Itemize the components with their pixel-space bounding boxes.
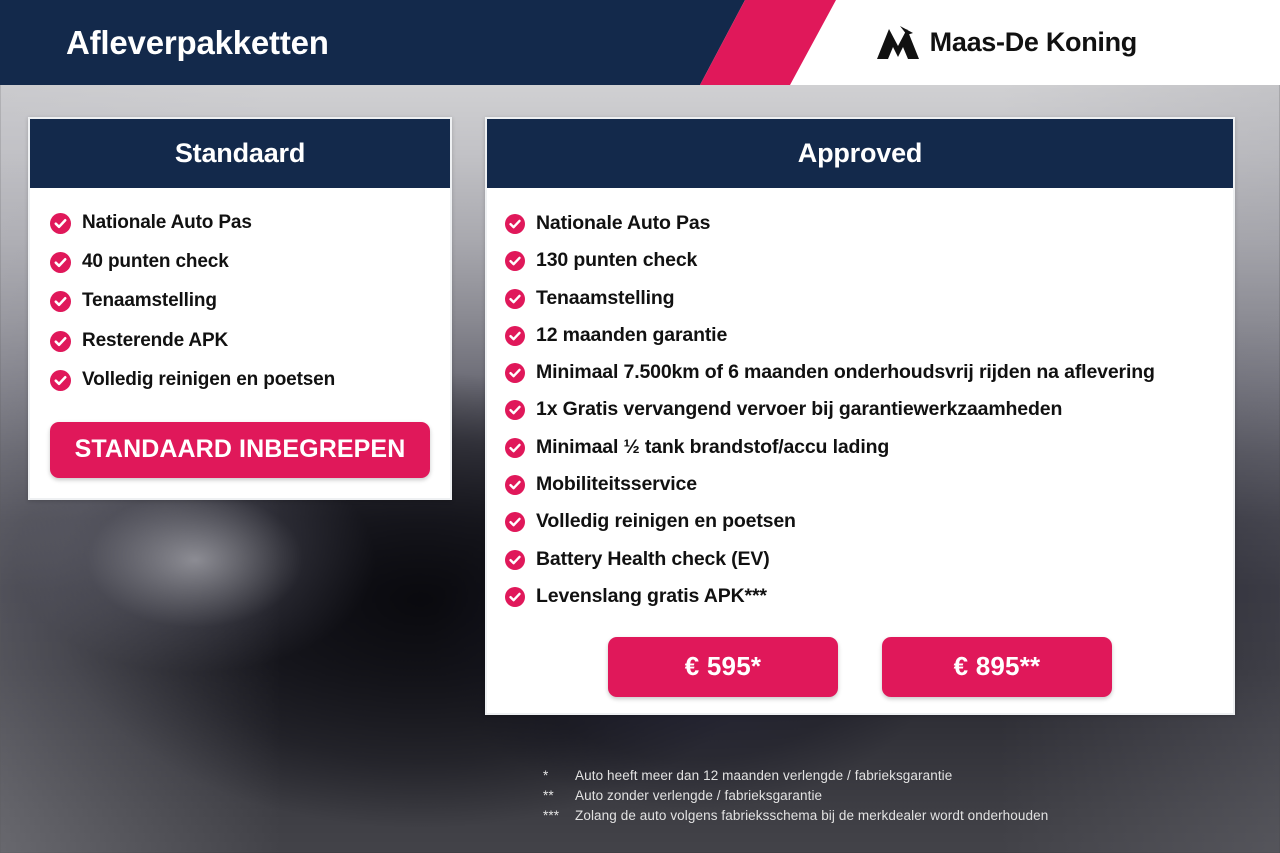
list-item: Levenslang gratis APK*** <box>505 583 1215 610</box>
feature-label: 40 punten check <box>82 249 229 275</box>
feature-list-approved: Nationale Auto Pas 130 punten check Tena… <box>505 210 1215 610</box>
package-card-approved: Approved Nationale Auto Pas 130 punten c… <box>485 117 1235 715</box>
footnotes: * Auto heeft meer dan 12 maanden verleng… <box>543 766 1048 826</box>
check-circle-icon <box>50 213 71 234</box>
feature-label: Resterende APK <box>82 328 228 354</box>
promo-page: Afleverpakketten Maas-De Koning Standaar… <box>0 0 1280 853</box>
package-card-standaard: Standaard Nationale Auto Pas 40 punten c… <box>28 117 452 500</box>
feature-label: Battery Health check (EV) <box>536 546 770 573</box>
feature-list-standaard: Nationale Auto Pas 40 punten check Tenaa… <box>50 210 430 393</box>
list-item: 12 maanden garantie <box>505 322 1215 349</box>
footnote-marker: * <box>543 766 575 786</box>
footnote-row: ** Auto zonder verlengde / fabrieksgaran… <box>543 786 1048 806</box>
feature-label: Minimaal ½ tank brandstof/accu lading <box>536 434 889 461</box>
package-title-approved: Approved <box>487 119 1233 188</box>
check-circle-icon <box>50 252 71 273</box>
feature-label: 130 punten check <box>536 247 697 274</box>
feature-label: Mobiliteitsservice <box>536 471 697 498</box>
package-body-standaard: Nationale Auto Pas 40 punten check Tenaa… <box>30 188 450 498</box>
feature-label: Nationale Auto Pas <box>82 210 252 236</box>
feature-label: Minimaal 7.500km of 6 maanden onderhouds… <box>536 359 1155 386</box>
list-item: Minimaal 7.500km of 6 maanden onderhouds… <box>505 359 1215 386</box>
footnote-text: Auto heeft meer dan 12 maanden verlengde… <box>575 766 952 786</box>
footnote-marker: ** <box>543 786 575 806</box>
page-title: Afleverpakketten <box>66 0 329 85</box>
check-circle-icon <box>505 214 525 234</box>
feature-label: Tenaamstelling <box>82 288 217 314</box>
footnote-row: *** Zolang de auto volgens fabrieksschem… <box>543 806 1048 826</box>
list-item: Tenaamstelling <box>505 285 1215 312</box>
list-item: 1x Gratis vervangend vervoer bij garanti… <box>505 396 1215 423</box>
list-item: 130 punten check <box>505 247 1215 274</box>
check-circle-icon <box>505 550 525 570</box>
maas-de-koning-m-mark-icon <box>877 26 919 60</box>
list-item: Volledig reinigen en poetsen <box>50 367 430 393</box>
footnote-row: * Auto heeft meer dan 12 maanden verleng… <box>543 766 1048 786</box>
page-header: Afleverpakketten Maas-De Koning <box>0 0 1280 85</box>
feature-label: 1x Gratis vervangend vervoer bij garanti… <box>536 396 1062 423</box>
check-circle-icon <box>505 438 525 458</box>
check-circle-icon <box>505 251 525 271</box>
footnote-text: Auto zonder verlengde / fabrieksgarantie <box>575 786 822 806</box>
brand-logo: Maas-De Koning <box>877 0 1137 85</box>
check-circle-icon <box>50 291 71 312</box>
check-circle-icon <box>505 326 525 346</box>
check-circle-icon <box>505 400 525 420</box>
package-title-standaard: Standaard <box>30 119 450 188</box>
list-item: 40 punten check <box>50 249 430 275</box>
feature-label: Levenslang gratis APK*** <box>536 583 767 610</box>
list-item: Tenaamstelling <box>50 288 430 314</box>
check-circle-icon <box>505 289 525 309</box>
check-circle-icon <box>50 370 71 391</box>
check-circle-icon <box>505 512 525 532</box>
list-item: Resterende APK <box>50 328 430 354</box>
list-item: Mobiliteitsservice <box>505 471 1215 498</box>
list-item: Minimaal ½ tank brandstof/accu lading <box>505 434 1215 461</box>
feature-label: 12 maanden garantie <box>536 322 727 349</box>
standaard-inbegrepen-button[interactable]: STANDAARD INBEGREPEN <box>50 422 430 478</box>
feature-label: Volledig reinigen en poetsen <box>82 367 335 393</box>
footnote-marker: *** <box>543 806 575 826</box>
package-body-approved: Nationale Auto Pas 130 punten check Tena… <box>487 188 1233 713</box>
check-circle-icon <box>505 363 525 383</box>
list-item: Nationale Auto Pas <box>50 210 430 236</box>
check-circle-icon <box>505 475 525 495</box>
feature-label: Nationale Auto Pas <box>536 210 710 237</box>
price-button-895[interactable]: € 895** <box>882 637 1112 697</box>
brand-name: Maas-De Koning <box>930 27 1137 58</box>
footnote-text: Zolang de auto volgens fabrieksschema bi… <box>575 806 1048 826</box>
price-button-595[interactable]: € 595* <box>608 637 838 697</box>
price-button-row: € 595* € 895** <box>505 637 1215 697</box>
feature-label: Volledig reinigen en poetsen <box>536 508 796 535</box>
check-circle-icon <box>50 331 71 352</box>
list-item: Battery Health check (EV) <box>505 546 1215 573</box>
list-item: Volledig reinigen en poetsen <box>505 508 1215 535</box>
check-circle-icon <box>505 587 525 607</box>
feature-label: Tenaamstelling <box>536 285 674 312</box>
list-item: Nationale Auto Pas <box>505 210 1215 237</box>
